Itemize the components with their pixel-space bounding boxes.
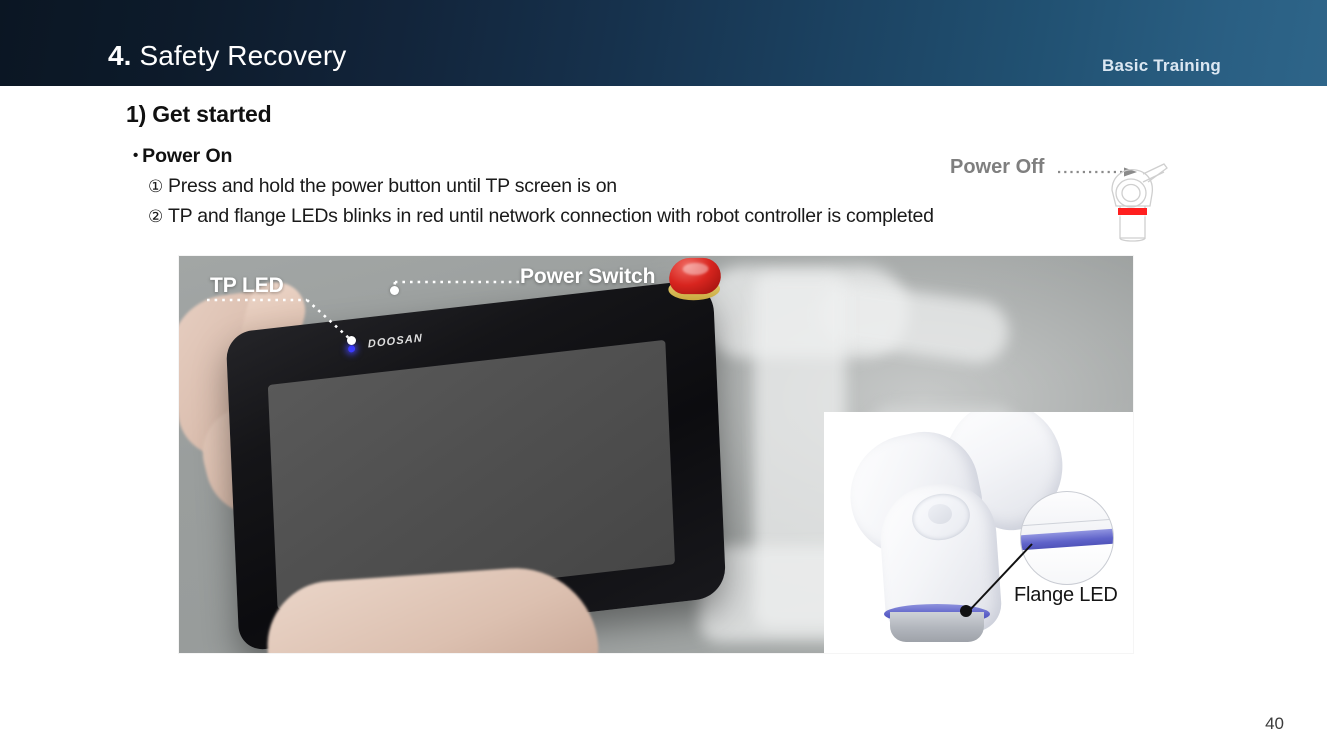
power-switch-label: Power Switch: [520, 265, 655, 289]
section-heading: 1) Get started: [126, 101, 271, 128]
robot-joint-inner: [928, 504, 952, 524]
step-item-1: ①Press and hold the power button until T…: [148, 175, 617, 198]
robot-flange-outline-icon: [1098, 160, 1170, 246]
page-title: 4. Safety Recovery: [108, 40, 346, 72]
page-title-number: 4.: [108, 40, 132, 71]
page-number: 40: [1265, 714, 1284, 734]
flange-led-inset: Flange LED: [824, 412, 1133, 653]
circled-number-1-icon: ①: [148, 177, 163, 197]
doosan-logo: DOOSAN: [368, 332, 424, 350]
bullet-marker-icon: •: [133, 147, 138, 164]
emergency-stop-button: [665, 258, 724, 306]
estop-highlight: [682, 263, 709, 275]
bullet-power-on: •Power On: [133, 145, 232, 168]
magnifier-hairline: [1021, 519, 1113, 526]
tp-led-label: TP LED: [210, 274, 284, 298]
page-title-text: Safety Recovery: [139, 40, 346, 71]
tp-led-leader-dot: [347, 336, 356, 345]
teach-pendant-photo: DOOSAN TP LED Power Switch: [179, 256, 1133, 653]
power-switch-leader-dot: [390, 286, 399, 295]
slide-header-bar: 4. Safety Recovery Basic Training: [0, 0, 1327, 86]
step-1-text: Press and hold the power button until TP…: [168, 175, 617, 197]
flange-led-anchor-dot: [960, 605, 972, 617]
flange-led-label: Flange LED: [1014, 584, 1118, 607]
circled-number-2-icon: ②: [148, 207, 163, 227]
tp-led-indicator-icon: [348, 345, 355, 353]
header-course-label: Basic Training: [1102, 56, 1221, 76]
estop-cap: [668, 258, 722, 294]
step-item-2: ②TP and flange LEDs blinks in red until …: [148, 205, 934, 228]
step-2-text: TP and flange LEDs blinks in red until n…: [168, 205, 934, 227]
bullet-power-on-label: Power On: [142, 145, 232, 167]
state-transition-callout: Power Off: [946, 152, 1266, 252]
slide-canvas: 4. Safety Recovery Basic Training 1) Get…: [0, 0, 1327, 739]
power-off-label: Power Off: [950, 156, 1044, 179]
teach-pendant-screen: [268, 340, 675, 610]
